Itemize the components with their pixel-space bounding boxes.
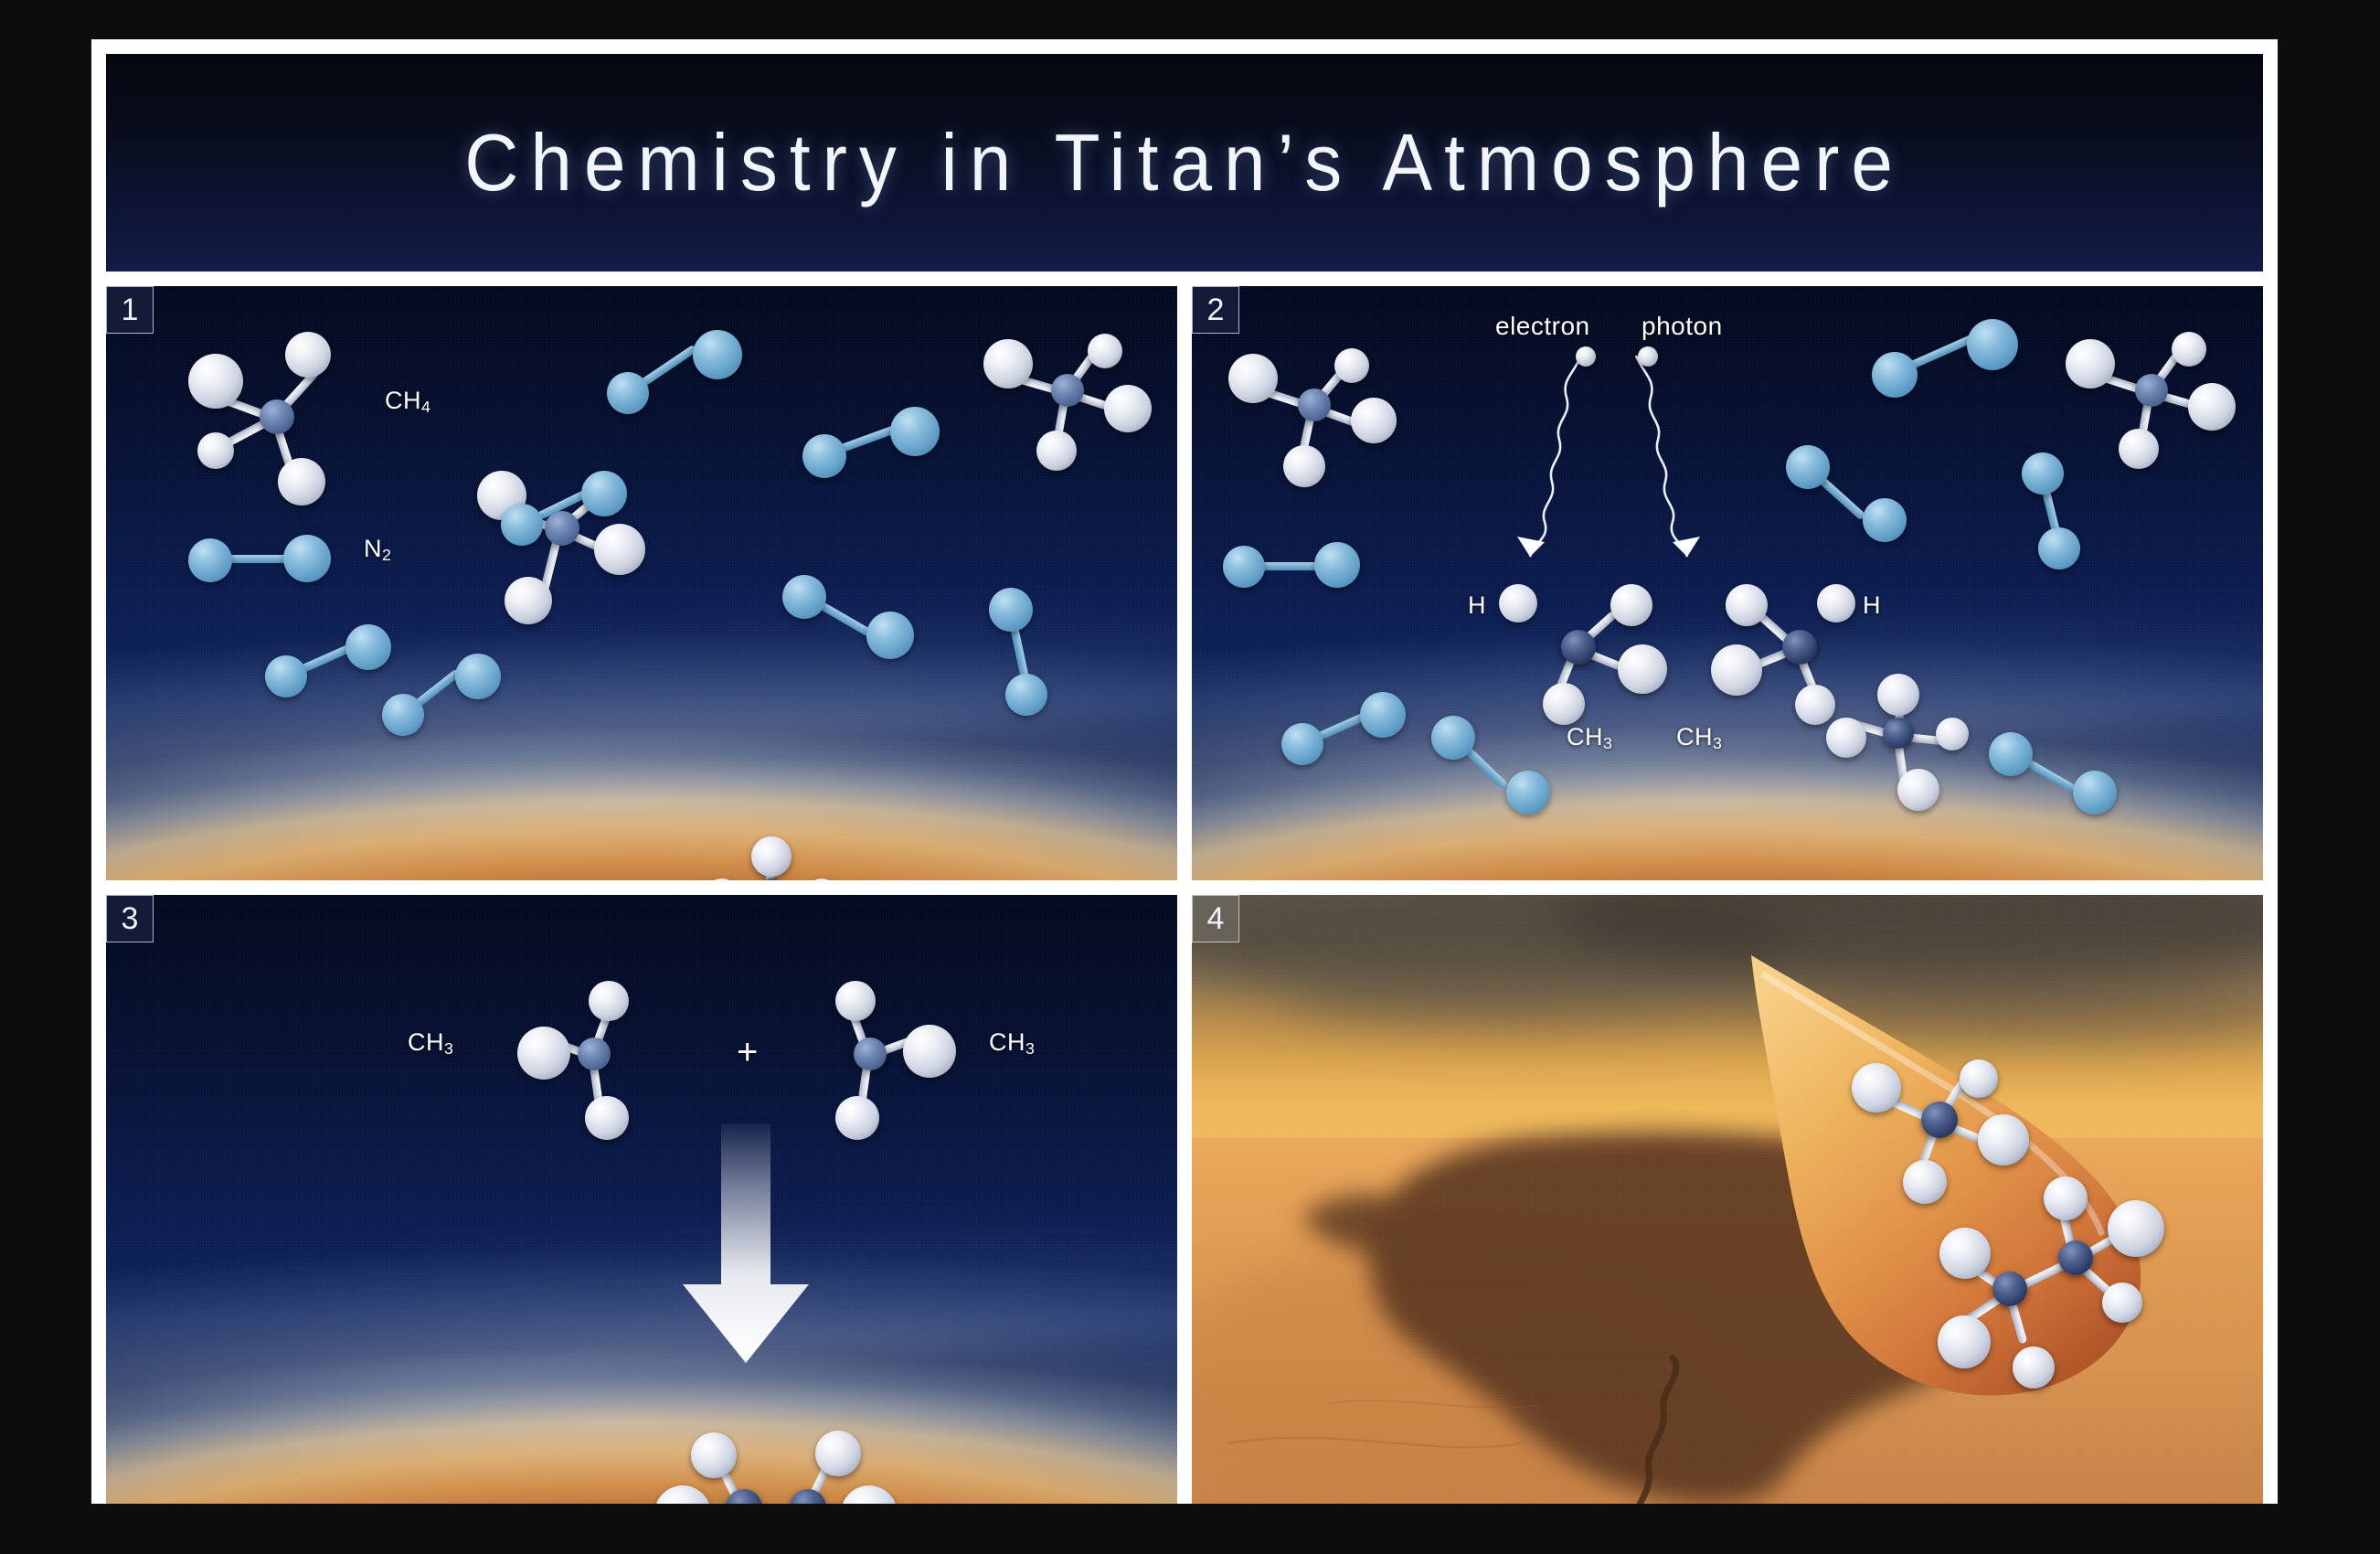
- methyl-radical-molecule: [801, 974, 974, 1147]
- methyl-label-right: CH3: [989, 1028, 1035, 1059]
- nitrogen-molecule: [1221, 529, 1367, 602]
- poster-frame: Chemistry in Titan’s Atmosphere CH4: [91, 39, 2278, 1504]
- methane-molecule: [179, 323, 371, 515]
- methane-molecule: [974, 314, 1157, 496]
- hydrogen-label-right: H: [1863, 591, 1881, 620]
- panel-badge-4: 4: [1192, 895, 1239, 942]
- methane-molecule: [1813, 661, 1987, 835]
- ethane-molecule: [636, 1407, 910, 1504]
- methane-molecule: [1219, 325, 1402, 507]
- nitrogen-molecule: [605, 330, 751, 431]
- nitrogen-molecule: [982, 575, 1064, 721]
- title-banner: Chemistry in Titan’s Atmosphere: [106, 54, 2263, 271]
- panel-badge-3: 3: [106, 895, 154, 942]
- nitrogen-molecule: [1987, 718, 2133, 818]
- methane-molecule: [691, 825, 855, 880]
- nitrogen-molecule: [1280, 688, 1417, 780]
- panel-1[interactable]: CH4: [106, 286, 1177, 880]
- methane-label: CH4: [385, 387, 430, 417]
- ethane-molecule: [1914, 1169, 2188, 1407]
- nitrogen-molecule: [1870, 319, 2025, 410]
- panel-3[interactable]: CH3 + CH3: [106, 895, 1177, 1504]
- electron-particle: [1576, 346, 1596, 367]
- nitrogen-molecule: [261, 623, 398, 714]
- nitrogen-molecule: [801, 403, 947, 495]
- electron-ray: [1466, 343, 1640, 571]
- methyl-radical-molecule: [490, 974, 664, 1147]
- photon-label: photon: [1642, 312, 1723, 341]
- panel-4[interactable]: 4: [1192, 895, 2263, 1504]
- page-title: Chemistry in Titan’s Atmosphere: [464, 122, 1905, 203]
- nitrogen-molecule: [1782, 431, 1919, 540]
- nitrogen-molecule: [499, 467, 636, 559]
- nitrogen-molecule: [1429, 699, 1557, 809]
- nitrogen-molecule: [185, 522, 340, 595]
- methyl-label-right: CH3: [1676, 723, 1722, 753]
- photon-ray: [1621, 343, 1795, 571]
- nitrogen-molecule: [2014, 440, 2097, 577]
- nitrogen-label: N2: [364, 535, 391, 565]
- panel-badge-1: 1: [106, 286, 154, 334]
- panel-grid: CH4: [106, 286, 2263, 1504]
- hydrogen-label-left: H: [1468, 591, 1486, 620]
- panel-2[interactable]: electron photon H: [1192, 286, 2263, 880]
- nitrogen-molecule: [380, 652, 508, 752]
- panel-badge-2: 2: [1192, 286, 1239, 334]
- nitrogen-molecule: [781, 560, 927, 661]
- reaction-arrow-icon: [659, 1123, 833, 1370]
- photon-particle: [1638, 346, 1658, 367]
- methyl-label-left: CH3: [408, 1028, 453, 1059]
- free-hydrogen-right: [1817, 584, 1855, 623]
- methyl-label-left: CH3: [1567, 723, 1612, 753]
- electron-label: electron: [1495, 312, 1590, 341]
- ethane-label: C2H6: [910, 1500, 966, 1504]
- plus-sign: +: [737, 1032, 758, 1073]
